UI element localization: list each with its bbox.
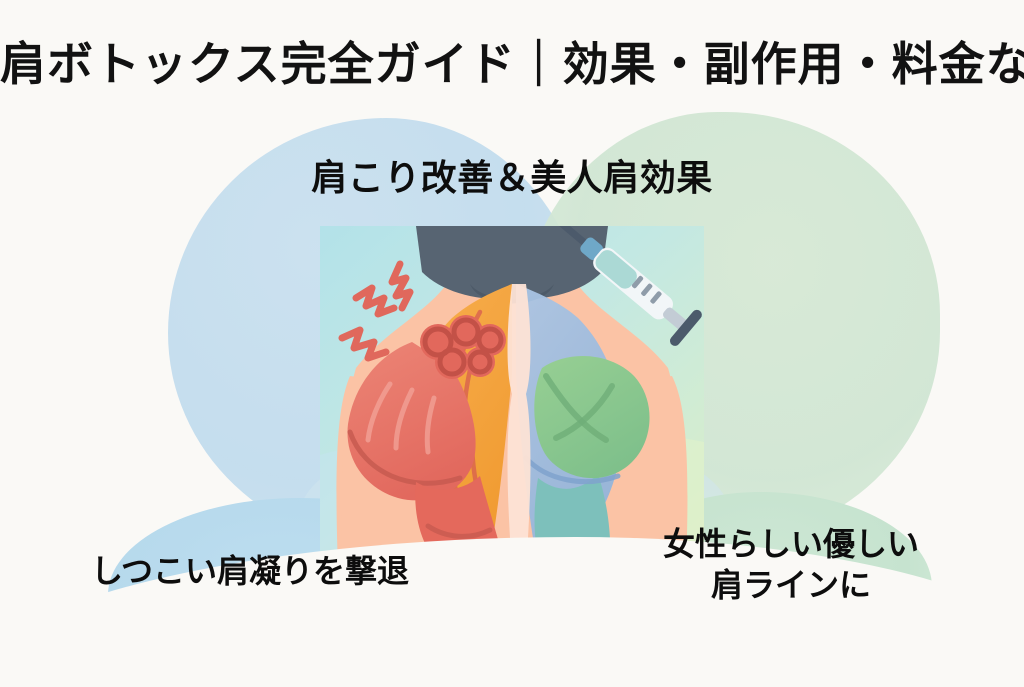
- caption-feminine-shoulder-line: 女性らしい優しい 肩ラインに: [616, 524, 966, 606]
- page-title: 肩ボトックス完全ガイド｜効果・副作用・料金など: [0, 28, 1024, 94]
- caption-feminine-shoulder-line-2: 肩ラインに: [711, 567, 871, 603]
- poster-canvas: 肩ボトックス完全ガイド｜効果・副作用・料金など 肩こり改善＆美人肩効果 しつこい…: [0, 0, 1024, 687]
- caption-feminine-shoulder-line-1: 女性らしい優しい: [663, 526, 919, 562]
- caption-shoulder-stiffness-improvement: 肩こり改善＆美人肩効果: [0, 155, 1024, 201]
- caption-defeat-stubborn-stiffness: しつこい肩凝りを撃退: [40, 551, 460, 592]
- shoulder-anatomy-illustration: [320, 226, 704, 568]
